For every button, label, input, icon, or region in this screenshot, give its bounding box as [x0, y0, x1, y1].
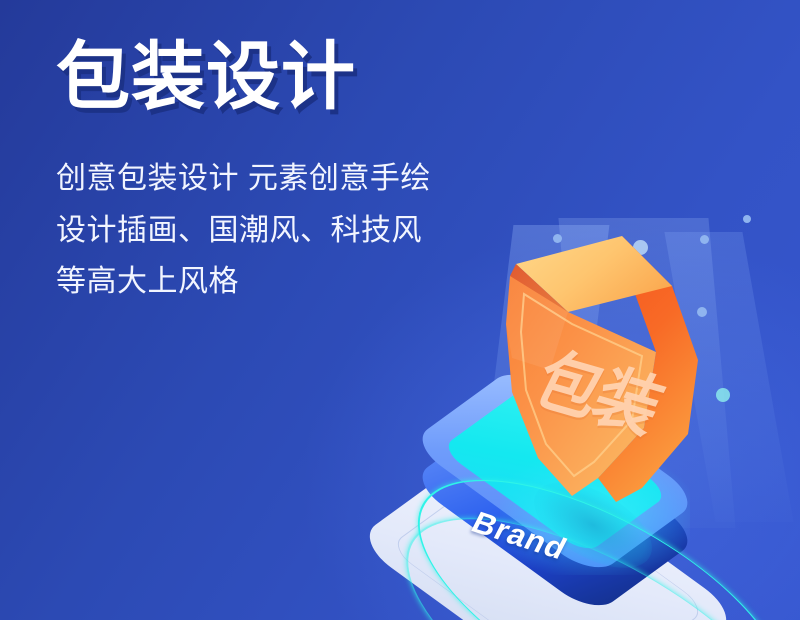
shield-illustration: Brand [380, 200, 800, 620]
subtitle-line: 创意包装设计 元素创意手绘 [56, 160, 526, 198]
shield-icon: 包装 [476, 220, 756, 520]
page-title: 包装设计 [56, 38, 526, 116]
promo-banner: 包装设计 创意包装设计 元素创意手绘 设计插画、国潮风、科技风 等高大上风格 B… [0, 0, 800, 620]
